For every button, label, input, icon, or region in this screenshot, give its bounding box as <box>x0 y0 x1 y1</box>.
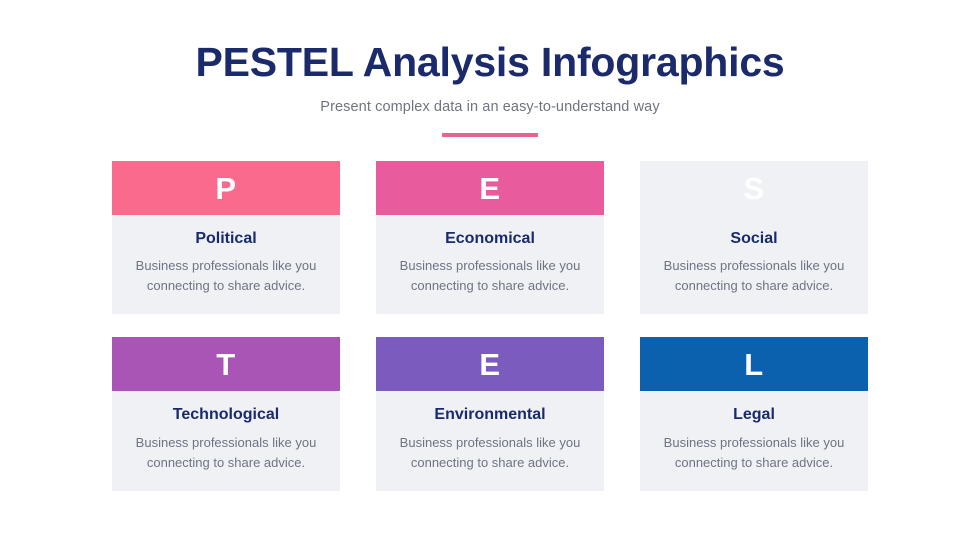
card-letter-s: S <box>743 173 764 204</box>
card-title-political: Political <box>126 229 326 248</box>
title-divider <box>442 133 538 137</box>
card-body-technological: Technological Business professionals lik… <box>112 391 340 490</box>
card-header-legal: L <box>640 337 868 391</box>
pestel-card-environmental[interactable]: E Environmental Business professionals l… <box>376 337 604 490</box>
card-description-political: Business professionals like you connecti… <box>126 256 326 296</box>
card-description-technological: Business professionals like you connecti… <box>126 433 326 473</box>
card-title-environmental: Environmental <box>390 405 590 424</box>
card-body-political: Political Business professionals like yo… <box>112 215 340 314</box>
card-header-social: S <box>640 161 868 215</box>
card-letter-l: L <box>744 349 763 380</box>
card-header-political: P <box>112 161 340 215</box>
card-body-social: Social Business professionals like you c… <box>640 215 868 314</box>
slide-root: PESTEL Analysis Infographics Present com… <box>0 0 980 551</box>
card-description-environmental: Business professionals like you connecti… <box>390 433 590 473</box>
pestel-card-political[interactable]: P Political Business professionals like … <box>112 161 340 314</box>
pestel-card-social[interactable]: S Social Business professionals like you… <box>640 161 868 314</box>
pestel-card-economical[interactable]: E Economical Business professionals like… <box>376 161 604 314</box>
card-description-economical: Business professionals like you connecti… <box>390 256 590 296</box>
card-header-economical: E <box>376 161 604 215</box>
card-letter-p: P <box>215 173 236 204</box>
card-letter-t: T <box>216 349 235 380</box>
card-body-economical: Economical Business professionals like y… <box>376 215 604 314</box>
card-description-social: Business professionals like you connecti… <box>654 256 854 296</box>
page-subtitle: Present complex data in an easy-to-under… <box>0 99 980 115</box>
pestel-card-technological[interactable]: T Technological Business professionals l… <box>112 337 340 490</box>
card-title-economical: Economical <box>390 229 590 248</box>
card-title-technological: Technological <box>126 405 326 424</box>
pestel-card-grid: P Political Business professionals like … <box>112 161 868 491</box>
card-body-legal: Legal Business professionals like you co… <box>640 391 868 490</box>
pestel-card-legal[interactable]: L Legal Business professionals like you … <box>640 337 868 490</box>
card-header-technological: T <box>112 337 340 391</box>
card-description-legal: Business professionals like you connecti… <box>654 433 854 473</box>
card-title-legal: Legal <box>654 405 854 424</box>
card-title-social: Social <box>654 229 854 248</box>
page-title: PESTEL Analysis Infographics <box>0 40 980 85</box>
card-letter-e2: E <box>479 349 500 380</box>
card-letter-e1: E <box>479 173 500 204</box>
card-header-environmental: E <box>376 337 604 391</box>
card-body-environmental: Environmental Business professionals lik… <box>376 391 604 490</box>
slide-header: PESTEL Analysis Infographics Present com… <box>0 0 980 137</box>
